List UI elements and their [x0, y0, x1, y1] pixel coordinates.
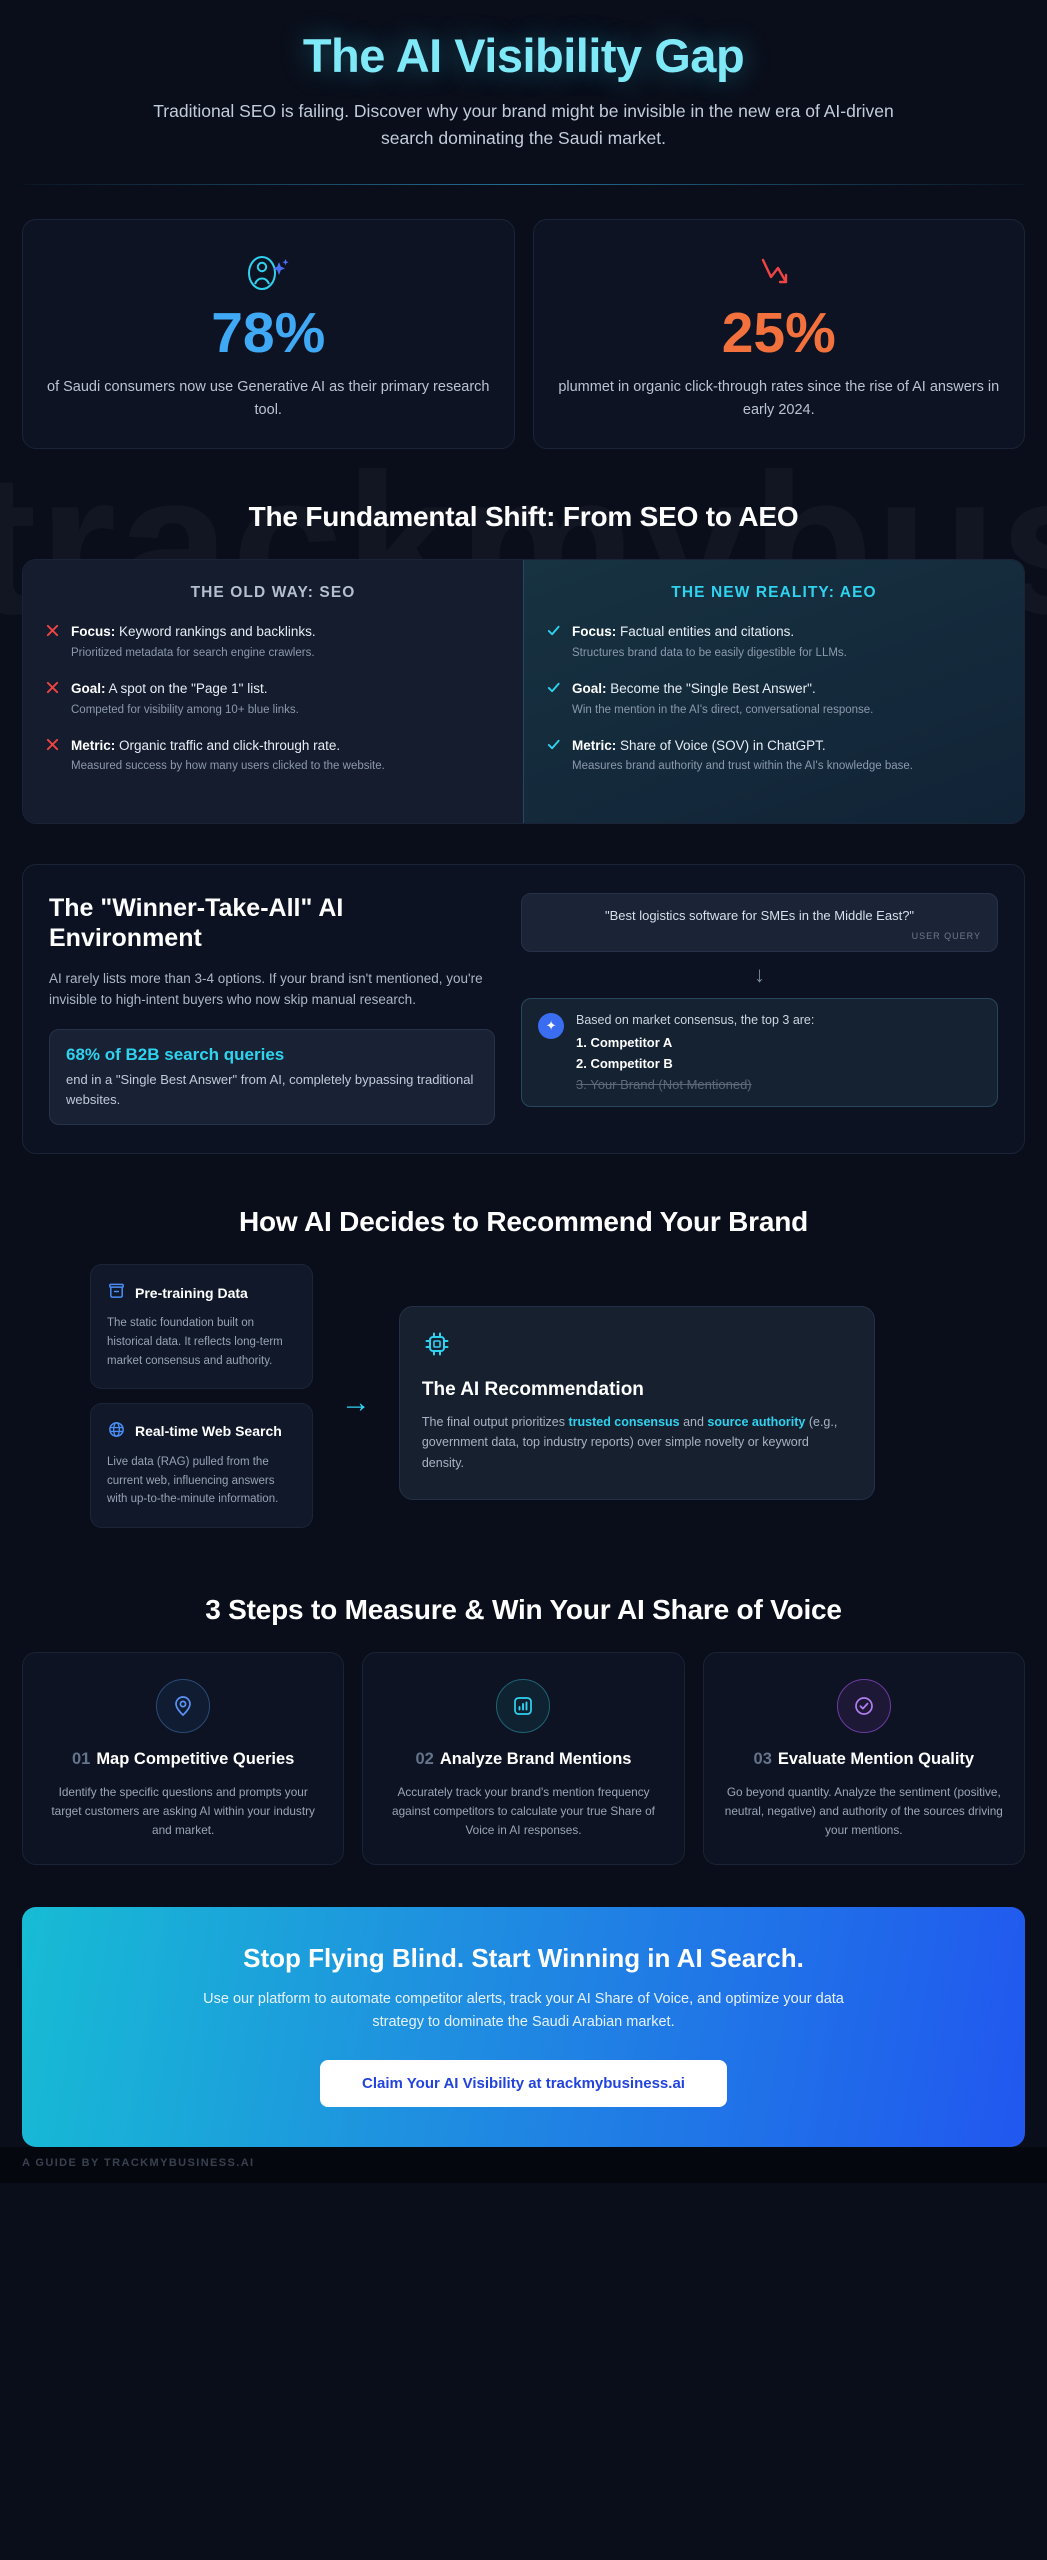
steps-row: 01Map Competitive Queries Identify the s… [22, 1652, 1025, 1865]
step-card-evaluate-quality: 03Evaluate Mention Quality Go beyond qua… [703, 1652, 1025, 1865]
source-card-pretraining: Pre-training Data The static foundation … [90, 1264, 313, 1389]
stat-description: plummet in organic click-through rates s… [558, 376, 1001, 422]
step-card-map-queries: 01Map Competitive Queries Identify the s… [22, 1652, 344, 1865]
step-card-analyze-mentions: 02Analyze Brand Mentions Accurately trac… [362, 1652, 684, 1865]
section-heading-decide: How AI Decides to Recommend Your Brand [22, 1206, 1025, 1238]
list-item: Goal: A spot on the "Page 1" list. Compe… [45, 679, 501, 719]
page-title: The AI Visibility Gap [22, 30, 1025, 82]
check-mark-icon [546, 737, 562, 776]
rec-bold-2: source authority [707, 1415, 805, 1429]
step-number: 01 [72, 1750, 90, 1768]
highlight-subtext: end in a "Single Best Answer" from AI, c… [66, 1070, 478, 1109]
stat-value: 25% [558, 304, 1001, 364]
source-title: Pre-training Data [135, 1285, 248, 1303]
x-mark-icon [45, 623, 61, 662]
stat-value: 78% [47, 304, 490, 364]
comparison-column-seo: THE OLD WAY: SEO Focus: Keyword rankings… [23, 560, 523, 822]
ai-sources-column: Pre-training Data The static foundation … [22, 1264, 313, 1542]
item-label: Focus: [572, 624, 616, 639]
source-text: The static foundation built on historica… [107, 1314, 296, 1370]
item-subtext: Structures brand data to be easily diges… [572, 645, 847, 662]
item-subtext: Measures brand authority and trust withi… [572, 758, 913, 775]
check-circle-icon [837, 1679, 891, 1733]
check-mark-icon [546, 680, 562, 719]
rec-text-2: and [680, 1415, 708, 1429]
step-text: Go beyond quantity. Analyze the sentimen… [724, 1783, 1004, 1840]
step-title-text: Analyze Brand Mentions [440, 1750, 632, 1768]
right-arrow-icon: → [313, 1386, 399, 1420]
item-subtext: Competed for visibility among 10+ blue l… [71, 702, 299, 719]
item-label: Goal: [71, 681, 106, 696]
user-query-box: "Best logistics software for SMEs in the… [521, 893, 998, 952]
item-subtext: Prioritized metadata for search engine c… [71, 645, 316, 662]
highlight-headline: 68% of B2B search queries [66, 1045, 478, 1065]
step-number: 02 [416, 1750, 434, 1768]
winner-demo-column: "Best logistics software for SMEs in the… [521, 893, 998, 1126]
ai-recommendation-column: The AI Recommendation The final output p… [399, 1306, 1025, 1500]
highlight-stat-box: 68% of B2B search queries end in a "Sing… [49, 1029, 495, 1125]
step-title-text: Map Competitive Queries [96, 1750, 294, 1768]
item-text: Organic traffic and click-through rate. [115, 738, 340, 753]
winner-body: AI rarely lists more than 3-4 options. I… [49, 968, 495, 1012]
item-subtext: Measured success by how many users click… [71, 758, 385, 775]
globe-icon [107, 1420, 126, 1444]
list-item: Focus: Keyword rankings and backlinks. P… [45, 622, 501, 662]
step-text: Identify the specific questions and prom… [43, 1783, 323, 1840]
ai-answer-box: ✦ Based on market consensus, the top 3 a… [521, 998, 998, 1107]
infographic-page: trackmybusiness The AI Visibility Gap Tr… [0, 0, 1047, 2560]
hero-divider [24, 184, 1023, 185]
list-item: Focus: Factual entities and citations. S… [546, 622, 1002, 662]
map-pin-icon [156, 1679, 210, 1733]
seo-aeo-comparison: THE OLD WAY: SEO Focus: Keyword rankings… [22, 559, 1025, 823]
item-label: Metric: [572, 738, 616, 753]
winner-take-all-section: The "Winner-Take-All" AI Environment AI … [22, 864, 1025, 1155]
list-item: Metric: Organic traffic and click-throug… [45, 736, 501, 776]
ai-recommendation-title: The AI Recommendation [422, 1378, 852, 1402]
source-title: Real-time Web Search [135, 1423, 282, 1441]
cta-banner: Stop Flying Blind. Start Winning in AI S… [22, 1907, 1025, 2147]
check-mark-icon [546, 623, 562, 662]
item-subtext: Win the mention in the AI's direct, conv… [572, 702, 873, 719]
trending-down-icon [558, 250, 1001, 296]
source-text: Live data (RAG) pulled from the current … [107, 1453, 296, 1509]
stat-card-ctr-drop: 25% plummet in organic click-through rat… [533, 219, 1026, 449]
item-text: Keyword rankings and backlinks. [115, 624, 315, 639]
item-label: Goal: [572, 681, 607, 696]
x-mark-icon [45, 680, 61, 719]
footer-credit: A GUIDE BY TRACKMYBUSINESS.AI [0, 2147, 1047, 2183]
item-text: A spot on the "Page 1" list. [106, 681, 268, 696]
query-text: "Best logistics software for SMEs in the… [538, 908, 981, 923]
source-card-realtime-web: Real-time Web Search Live data (RAG) pul… [90, 1403, 313, 1528]
rec-bold-1: trusted consensus [568, 1415, 679, 1429]
x-mark-icon [45, 737, 61, 776]
rec-text-1: The final output prioritizes [422, 1415, 569, 1429]
stat-card-row: 78% of Saudi consumers now use Generativ… [22, 219, 1025, 449]
stat-description: of Saudi consumers now use Generative AI… [47, 376, 490, 422]
item-label: Metric: [71, 738, 115, 753]
item-text: Become the "Single Best Answer". [607, 681, 816, 696]
section-heading-shift: The Fundamental Shift: From SEO to AEO [22, 501, 1025, 533]
answer-lead: Based on market consensus, the top 3 are… [576, 1013, 981, 1027]
query-label: USER QUERY [538, 931, 981, 941]
ai-recommendation-card: The AI Recommendation The final output p… [399, 1306, 875, 1500]
down-arrow-icon: ↓ [521, 962, 998, 988]
bar-chart-icon [496, 1679, 550, 1733]
list-item: Metric: Share of Voice (SOV) in ChatGPT.… [546, 736, 1002, 776]
answer-rank: 2. Competitor B [576, 1056, 981, 1071]
how-ai-decides-section: Pre-training Data The static foundation … [22, 1264, 1025, 1542]
column-header: THE OLD WAY: SEO [45, 584, 501, 602]
cpu-chip-icon [422, 1329, 852, 1364]
cta-body: Use our platform to automate competitor … [194, 1988, 854, 2034]
column-header: THE NEW REALITY: AEO [546, 584, 1002, 602]
item-text: Share of Voice (SOV) in ChatGPT. [616, 738, 825, 753]
item-text: Factual entities and citations. [616, 624, 794, 639]
section-heading-steps: 3 Steps to Measure & Win Your AI Share o… [22, 1594, 1025, 1626]
claim-visibility-button[interactable]: Claim Your AI Visibility at trackmybusin… [320, 2060, 727, 2107]
cta-title: Stop Flying Blind. Start Winning in AI S… [52, 1943, 995, 1974]
user-sparkle-icon [47, 250, 490, 296]
step-number: 03 [754, 1750, 772, 1768]
answer-rank: 1. Competitor A [576, 1035, 981, 1050]
stat-card-ai-adoption: 78% of Saudi consumers now use Generativ… [22, 219, 515, 449]
comparison-column-aeo: THE NEW REALITY: AEO Focus: Factual enti… [523, 560, 1024, 822]
item-label: Focus: [71, 624, 115, 639]
ai-sparkle-icon: ✦ [538, 1013, 564, 1039]
hero-subtitle: Traditional SEO is failing. Discover why… [144, 98, 904, 152]
winner-text-column: The "Winner-Take-All" AI Environment AI … [49, 893, 495, 1126]
step-title-text: Evaluate Mention Quality [778, 1750, 974, 1768]
winner-title: The "Winner-Take-All" AI Environment [49, 893, 495, 954]
step-text: Accurately track your brand's mention fr… [383, 1783, 663, 1840]
database-icon [107, 1281, 126, 1305]
list-item: Goal: Become the "Single Best Answer". W… [546, 679, 1002, 719]
hero-section: The AI Visibility Gap Traditional SEO is… [22, 0, 1025, 185]
answer-rank-not-mentioned: 3. Your Brand (Not Mentioned) [576, 1077, 981, 1092]
